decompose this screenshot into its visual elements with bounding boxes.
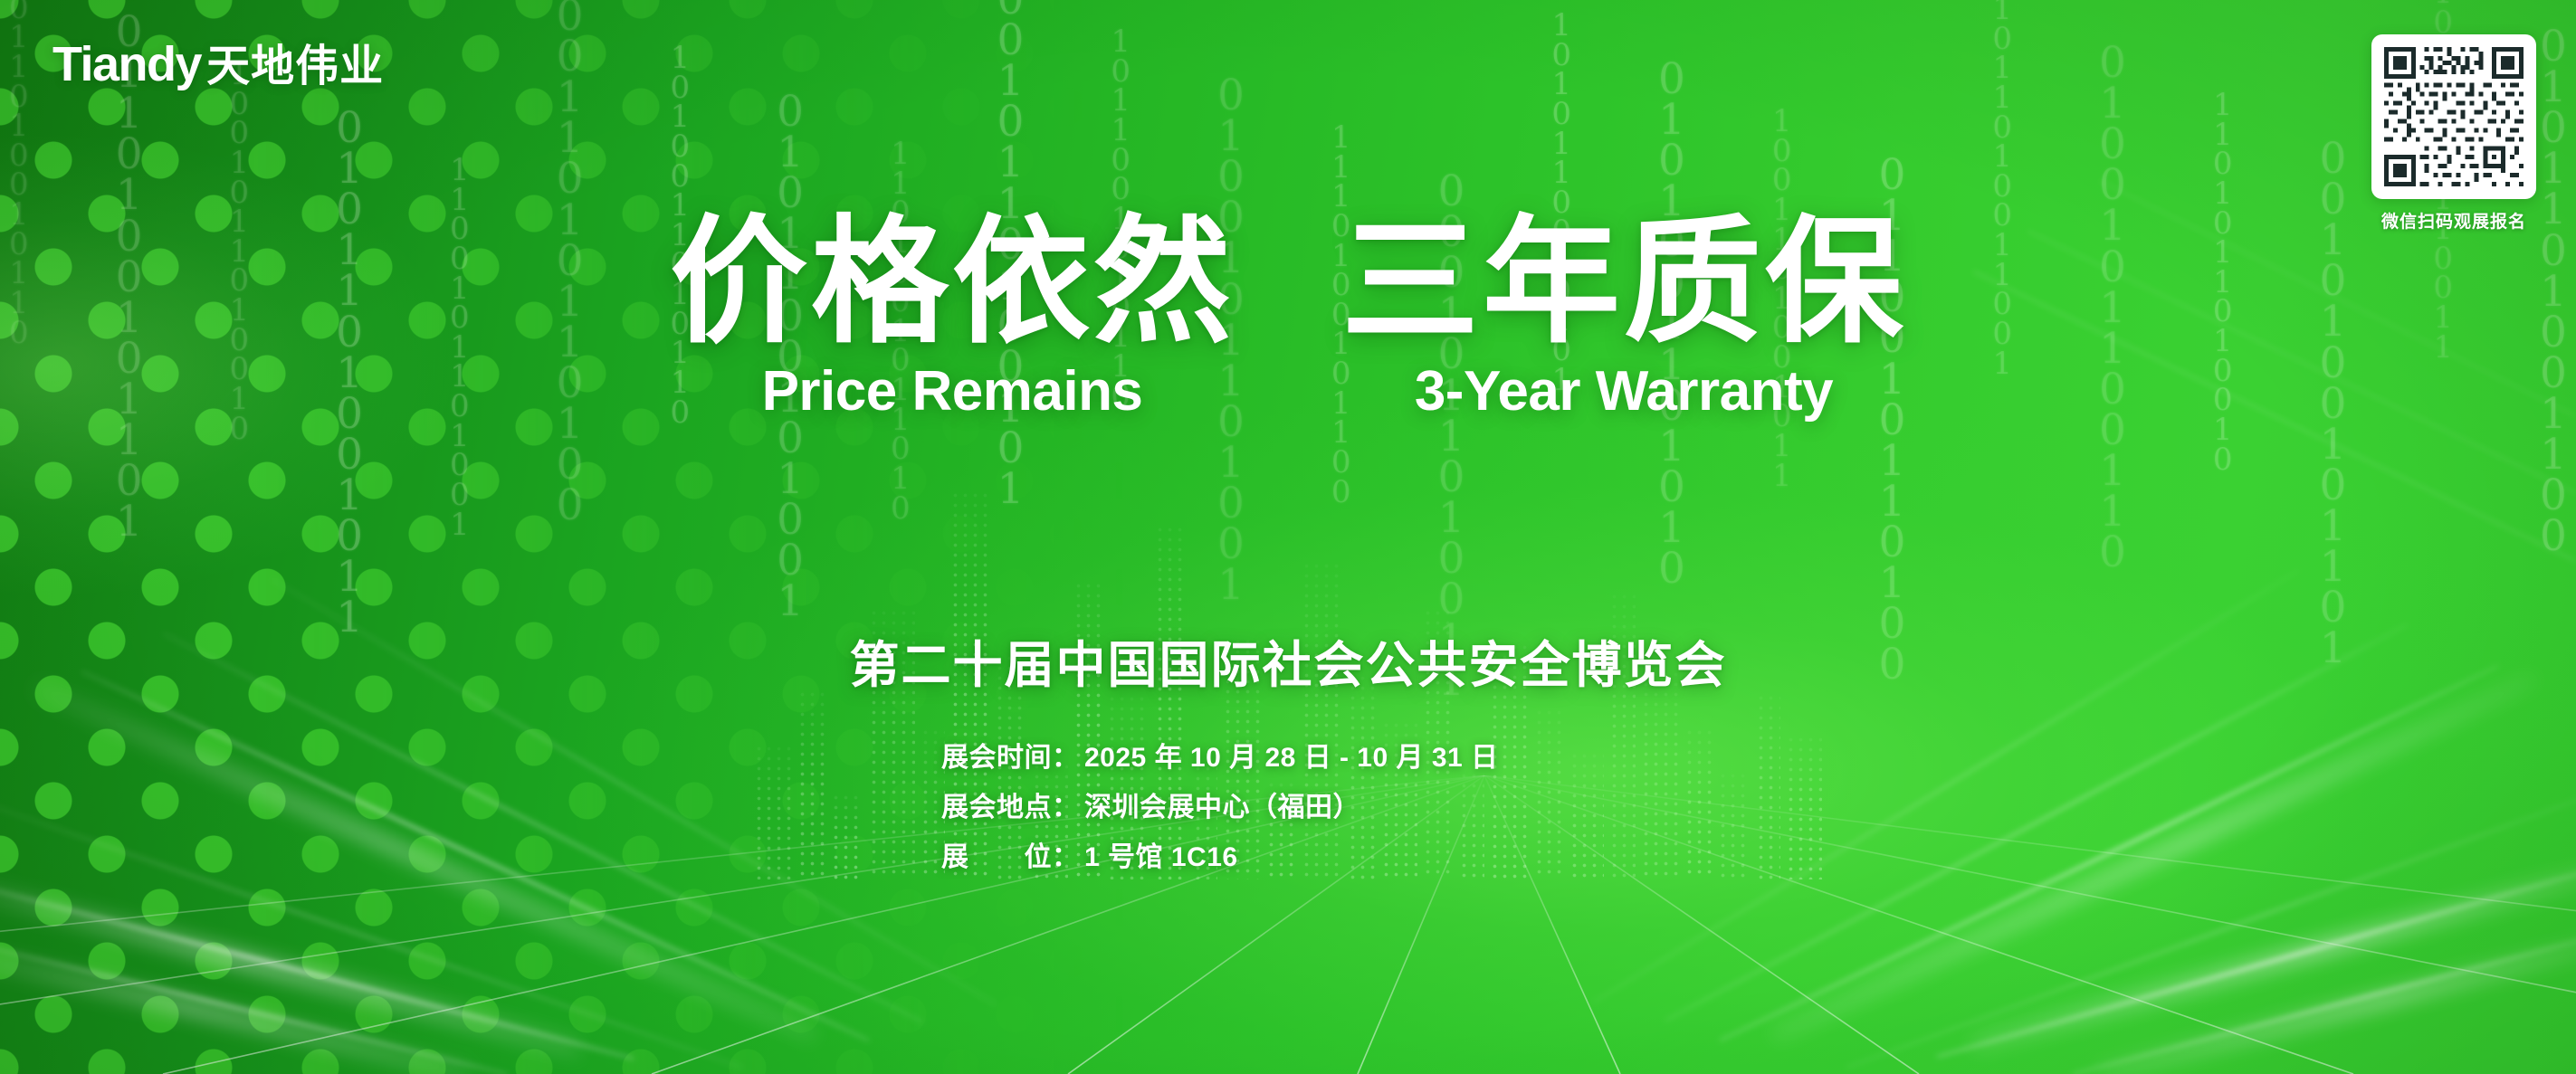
qr-code-icon[interactable] — [2371, 34, 2536, 199]
logo-chinese-name: 天地伟业 — [206, 45, 384, 89]
headline-row: 价格依然 Price Remains 三年质保 3-Year Warranty — [0, 214, 2576, 420]
info-line-venue: 展会地点： 深圳会展中心（福田） — [941, 784, 1499, 824]
logo-wordmark: Tiandy — [52, 40, 201, 89]
brand-logo[interactable]: Tiandy 天地伟业 — [52, 40, 384, 89]
headline-price-en: Price Remains — [762, 364, 1143, 420]
headline-warranty-en: 3-Year Warranty — [1415, 364, 1833, 420]
promo-banner: 1 0 1 1 0 1 0 0 1 0 1 1 00 1 1 0 1 0 0 1… — [0, 0, 2576, 1074]
headline-warranty: 三年质保 3-Year Warranty — [1341, 214, 1906, 420]
headline-warranty-cn: 三年质保 — [1341, 214, 1906, 351]
expo-title: 第二十届中国国际社会公共安全博览会 — [0, 624, 2576, 697]
expo-info-block: 展会时间： 2025 年 10 月 28 日 - 10 月 31 日 展会地点：… — [941, 735, 1499, 874]
info-line-booth: 展 位： 1 号馆 1C16 — [941, 834, 1499, 874]
info-line-date: 展会时间： 2025 年 10 月 28 日 - 10 月 31 日 — [941, 735, 1499, 775]
headline-price-cn: 价格依然 — [670, 214, 1235, 351]
info-value-date: 2025 年 10 月 28 日 - 10 月 31 日 — [1084, 735, 1499, 775]
info-value-booth: 1 号馆 1C16 — [1084, 834, 1238, 874]
qr-registration-block[interactable]: 微信扫码观展报名 — [2371, 34, 2536, 233]
info-value-venue: 深圳会展中心（福田） — [1084, 784, 1360, 824]
headline-price: 价格依然 Price Remains — [670, 214, 1235, 420]
info-label-booth: 展 位： — [941, 834, 1084, 874]
info-label-date: 展会时间： — [941, 735, 1084, 775]
info-label-venue: 展会地点： — [941, 784, 1084, 824]
